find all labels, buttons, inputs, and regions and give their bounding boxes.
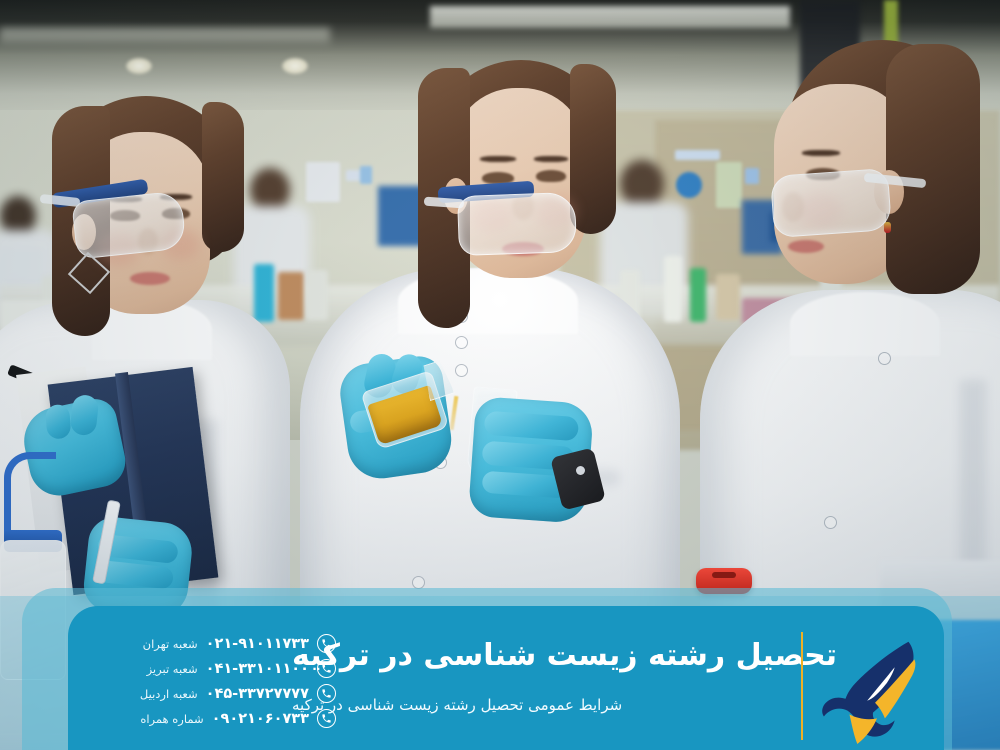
wall-sign [360, 166, 372, 184]
wrist-watch-crown [576, 466, 585, 475]
banner-subheadline: شرایط عمومی تحصیل رشته زیست شناسی در ترک… [292, 696, 622, 716]
vertical-divider [801, 632, 803, 740]
wall-sign [745, 168, 759, 184]
contact-label: شعبه اردبیل [140, 687, 198, 701]
wall-sign [675, 150, 720, 160]
contact-label: شعبه تهران [143, 637, 198, 651]
red-bottle-cap-slot [712, 572, 736, 578]
bench-item [254, 264, 274, 322]
ceiling-downlight [282, 58, 308, 74]
coat-button [455, 336, 468, 349]
banner-headline: تحصیل رشته زیست شناسی در ترکیه [292, 638, 837, 674]
bench-item [664, 256, 682, 322]
coat-button [455, 364, 468, 377]
headline-block: تحصیل رشته زیست شناسی در ترکیه شرایط عمو… [292, 604, 792, 750]
coat-button [824, 516, 837, 529]
ceiling-light-strip-secondary [0, 28, 330, 44]
bench-item [306, 270, 328, 320]
earring-right [884, 222, 891, 233]
contact-label: شماره همراه [140, 712, 203, 726]
wall-poster [716, 162, 742, 208]
contact-label: شعبه تبریز [147, 662, 198, 676]
bench-item [278, 272, 304, 320]
coat-button [878, 352, 891, 365]
goggles-lens-center [457, 192, 577, 256]
wash-bottle-tube [4, 452, 56, 538]
ceiling-downlight [126, 58, 152, 74]
bench-item [716, 274, 740, 320]
banner-stage: ۰۲۱-۹۱۰۱۱۷۳۳ شعبه تهران ۰۴۱-۳۳۱۰۱۱۰۰ شعب… [0, 0, 1000, 750]
bird-wing-logo[interactable] [818, 624, 936, 746]
ceiling-light-strip [430, 6, 790, 28]
bench-item [690, 268, 706, 322]
